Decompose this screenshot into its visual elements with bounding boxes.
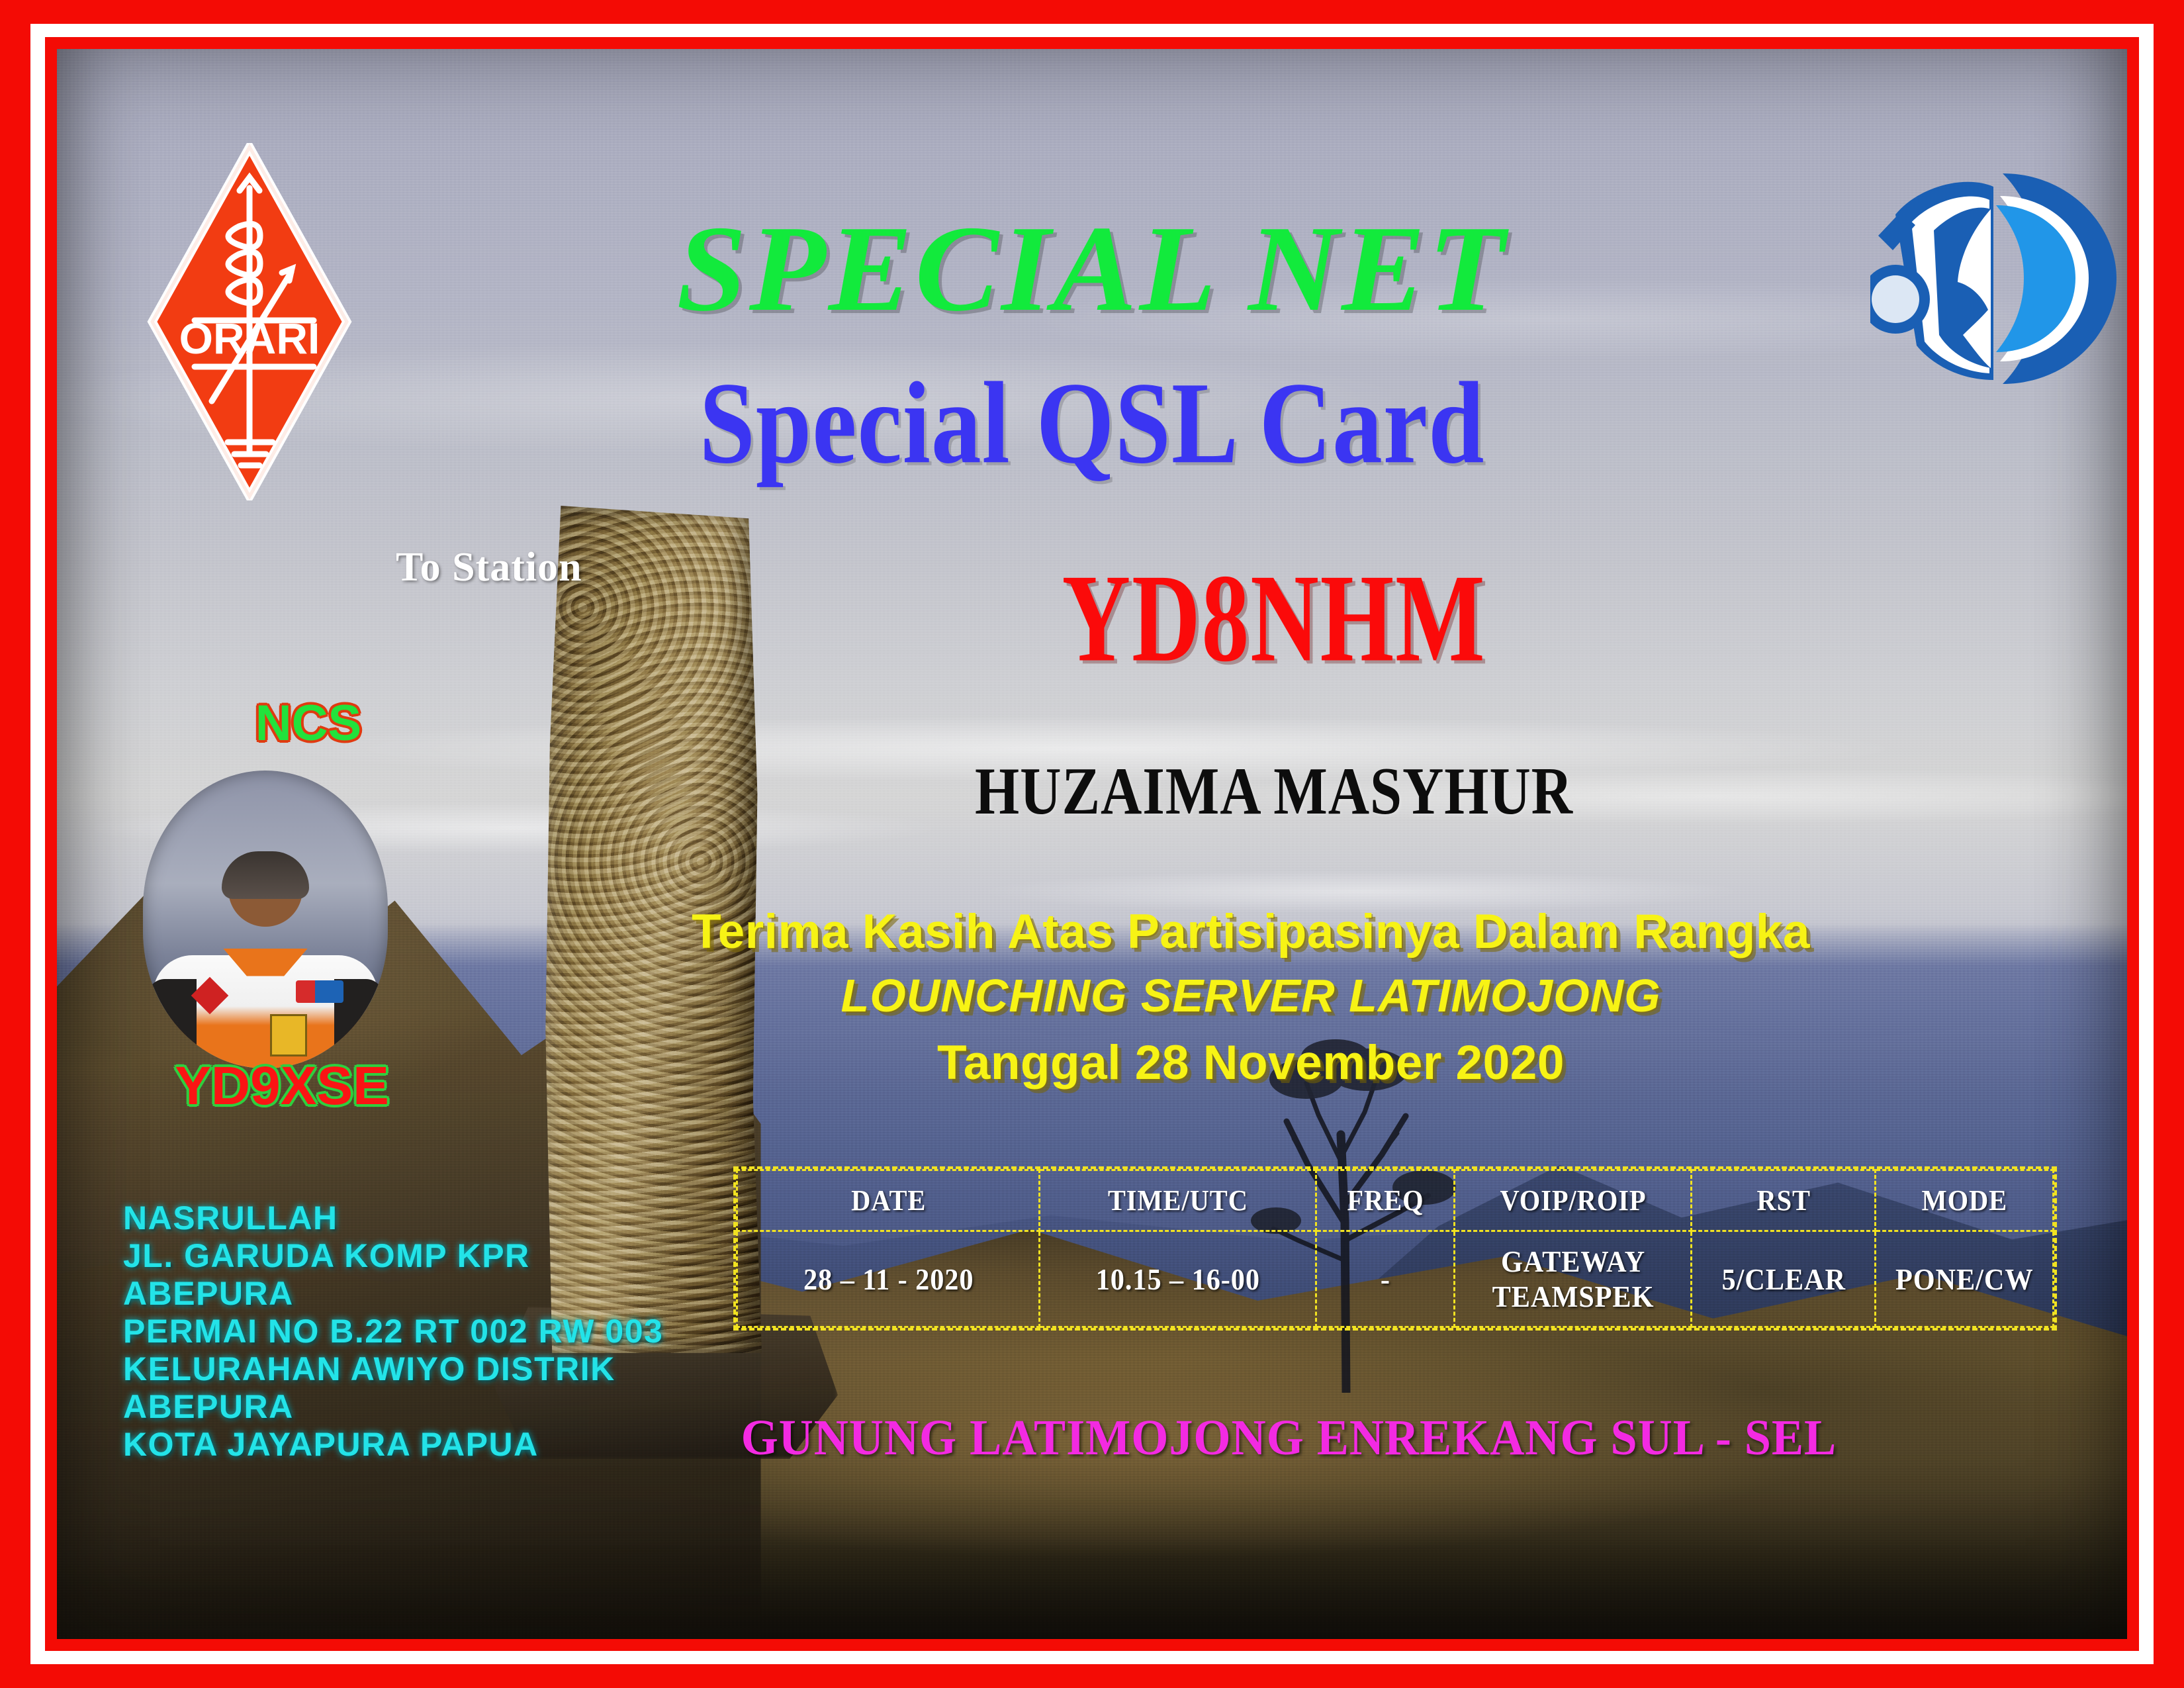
header-rst: RST (1699, 1170, 1868, 1231)
to-station-label: To Station (396, 544, 582, 591)
photo-id-card (270, 1014, 307, 1056)
address-line: JL. GARUDA KOMP KPR (123, 1237, 663, 1275)
footer-web-address: Address : amatir.latimojong.com (1342, 1631, 2006, 1639)
photo-hair (222, 851, 309, 899)
footer-motto: "AMATIR RADIO ADALAH PROGRESIVE" (165, 1631, 1115, 1639)
ncs-callsign: YD9XSE (143, 1055, 421, 1117)
header-voip-roip: VOIP/ROIP (1464, 1170, 1682, 1231)
ncs-label: NCS (193, 694, 424, 752)
address-line: PERMAI NO B.22 RT 002 RW 003 (123, 1313, 663, 1350)
address-line: KOTA JAYAPURA PAPUA (123, 1426, 663, 1464)
cell-date: 28 – 11 - 2020 (749, 1231, 1028, 1327)
qsl-card: ORARI (0, 0, 2184, 1688)
title-special-net: SPECIAL NET (57, 198, 2127, 340)
thanks-line-3: Tanggal 28 November 2020 (653, 1035, 1849, 1090)
address-line: NASRULLAH (123, 1199, 663, 1237)
card-white-frame: ORARI (30, 24, 2154, 1664)
title-special-qsl-card: Special QSL Card (99, 356, 2086, 491)
header-date: DATE (749, 1170, 1028, 1231)
card-photo-stage: ORARI (57, 49, 2127, 1639)
header-freq: FREQ (1322, 1170, 1449, 1231)
header-mode: MODE (1883, 1170, 2046, 1231)
operator-photo (143, 771, 388, 1068)
qso-log-table: DATE TIME/UTC FREQ VOIP/ROIP RST MODE (733, 1166, 2057, 1331)
thanks-line-2: LOUNCHING SERVER LATIMOJONG (653, 969, 1849, 1022)
table-row: 28 – 11 - 2020 10.15 – 16-00 - GATEWAY T… (737, 1231, 2054, 1327)
header-time-utc: TIME/UTC (1051, 1170, 1305, 1231)
address-line: KELURAHAN AWIYO DISTRIK (123, 1350, 663, 1388)
address-line: ABEPURA (123, 1388, 663, 1426)
cell-time-utc: 10.15 – 16-00 (1051, 1231, 1305, 1327)
card-inner-red-frame: ORARI (45, 37, 2139, 1651)
location-line: GUNUNG LATIMOJONG ENREKANG SUL - SEL (741, 1409, 1837, 1467)
address-line: ABEPURA (123, 1275, 663, 1313)
thanks-line-1: Terima Kasih Atas Partisipasinya Dalam R… (653, 904, 1849, 959)
table-header-row: DATE TIME/UTC FREQ VOIP/ROIP RST MODE (737, 1170, 2054, 1231)
cell-mode: PONE/CW (1883, 1231, 2046, 1327)
operator-name: HUZAIMA MASYHUR (864, 752, 1684, 830)
callsign: YD8NHM (854, 545, 1694, 691)
address-block: NASRULLAH JL. GARUDA KOMP KPR ABEPURA PE… (123, 1199, 663, 1464)
cell-freq: - (1322, 1231, 1449, 1327)
cell-voip-roip: GATEWAY TEAMSPEK (1464, 1231, 1682, 1327)
photo-logo-patch (296, 980, 343, 1003)
cell-rst: 5/CLEAR (1699, 1231, 1868, 1327)
